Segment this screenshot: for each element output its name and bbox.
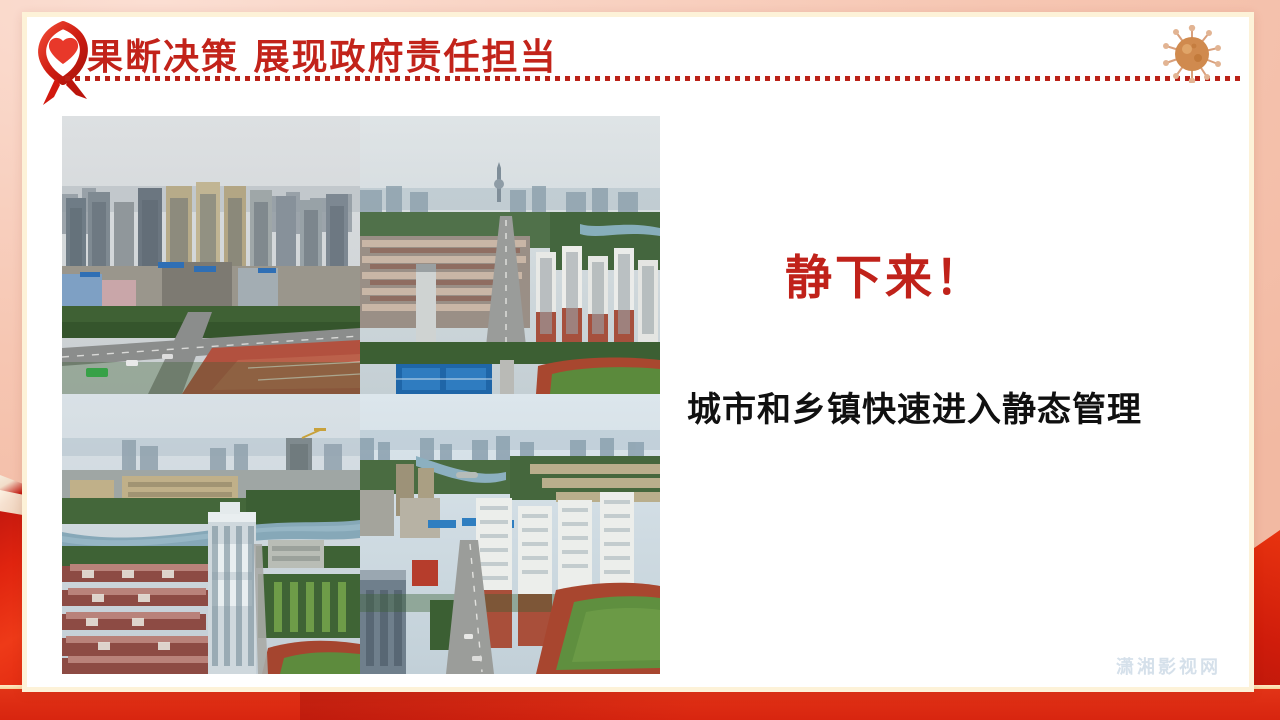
coronavirus-icon (1163, 25, 1221, 83)
bottom-red-banner (0, 688, 1280, 720)
photo-bottom-left (62, 394, 360, 674)
photo-top-left (62, 116, 360, 394)
slide-canvas: 果断决策 展现政府责任担当 (0, 0, 1280, 720)
page-title: 果断决策 展现政府责任担当 (87, 28, 558, 80)
slide-header: 果断决策 展现政府责任担当 (27, 17, 1249, 93)
photo-grid (62, 116, 660, 674)
red-awareness-ribbon-heart-icon (32, 19, 94, 105)
slide-card: 果断决策 展现政府责任担当 (22, 12, 1254, 692)
photo-top-right (360, 116, 660, 394)
header-dotted-divider (65, 76, 1245, 81)
photo-bottom-right (360, 394, 660, 674)
watermark: 潇湘影视网 (1116, 653, 1221, 679)
subtitle-text: 城市和乡镇快速进入静态管理 (687, 382, 1227, 431)
headline-text: 静下来！ (785, 239, 1205, 308)
